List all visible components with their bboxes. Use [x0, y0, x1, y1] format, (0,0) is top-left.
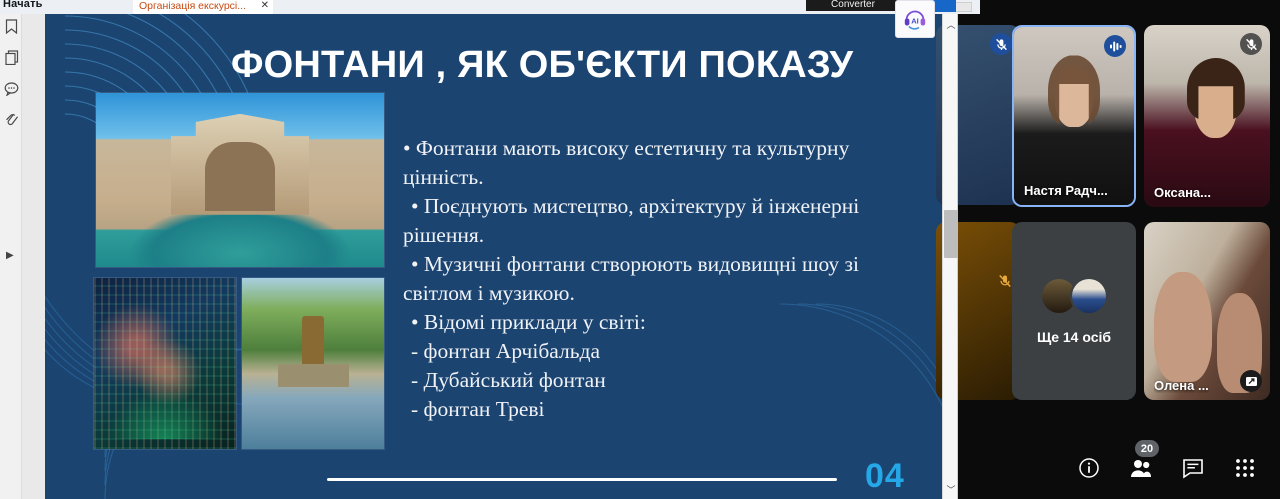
slide-bullet: - Дубайський фонтан: [403, 366, 933, 395]
start-button[interactable]: Начать: [3, 0, 43, 10]
speaking-indicator-icon: [1104, 35, 1126, 57]
more-participants-tile[interactable]: Ще 14 осіб: [1012, 222, 1136, 400]
slide-bullet: - фонтан Арчібальда: [403, 337, 933, 366]
slide-bullet: • Музичні фонтани створюють видовищні шо…: [403, 250, 933, 308]
participant-tile-oksana[interactable]: Оксана...: [1144, 25, 1270, 207]
pin-presentation-icon[interactable]: [1240, 370, 1262, 392]
meeting-info-button[interactable]: [1076, 455, 1102, 481]
video-call-panel: ... Настя Радч...: [958, 0, 1280, 499]
slide-bullet: • Фонтани мають високу естетичну та куль…: [403, 134, 933, 192]
avatar: [1070, 277, 1108, 315]
avatar-group: [1040, 277, 1108, 315]
scroll-up-button[interactable]: ︿: [943, 16, 959, 32]
meet-bottom-toolbar: 20: [958, 437, 1280, 499]
comment-icon[interactable]: [3, 80, 20, 97]
close-icon[interactable]: ✕: [261, 1, 269, 11]
document-scrollbar[interactable]: ︿ ﹀: [942, 14, 958, 499]
scrollbar-thumb[interactable]: [944, 210, 958, 258]
browser-tab-title: Організація екскурсі...: [139, 0, 257, 12]
slide-divider-rule: [327, 478, 837, 481]
activities-grid-button[interactable]: [1232, 455, 1258, 481]
expand-sidebar-arrow[interactable]: ▶: [6, 250, 14, 261]
participant-tile-nastya[interactable]: Настя Радч...: [1012, 25, 1136, 207]
slide-title: ФОНТАНИ , ЯК ОБ'ЄКТИ ПОКАЗУ: [231, 44, 931, 87]
pages-icon[interactable]: [3, 49, 20, 66]
archibald-fountain-photo: [241, 277, 385, 450]
slide-bullet: - фонтан Треві: [403, 395, 933, 424]
participant-name: Олена ...: [1154, 378, 1209, 393]
chat-button[interactable]: [1180, 455, 1206, 481]
pdf-document-area[interactable]: ФОНТАНИ , ЯК ОБ'ЄКТИ ПОКАЗУ • Фонтани ма…: [22, 14, 958, 499]
participant-name: Настя Радч...: [1024, 183, 1108, 198]
mic-off-icon: [990, 33, 1012, 55]
svg-text:AI: AI: [911, 16, 919, 25]
slide-bullet-list: • Фонтани мають високу естетичну та куль…: [403, 134, 933, 424]
ai-assistant-icon[interactable]: AI: [895, 0, 935, 38]
participant-name: Оксана...: [1154, 185, 1211, 200]
attachment-icon[interactable]: [3, 111, 20, 128]
mic-off-icon: [1240, 33, 1262, 55]
browser-tab[interactable]: Організація екскурсі... ✕: [133, 0, 273, 14]
slide-bullet: • Відомі приклади у світі:: [403, 308, 933, 337]
bookmark-icon[interactable]: [3, 18, 20, 35]
participant-tile-olena[interactable]: Олена ...: [1144, 222, 1270, 400]
presentation-slide: ФОНТАНИ , ЯК ОБ'ЄКТИ ПОКАЗУ • Фонтани ма…: [45, 14, 960, 499]
more-participants-label: Ще 14 осіб: [1037, 329, 1111, 345]
pdf-sidebar-rail[interactable]: ▶: [0, 14, 22, 499]
trevi-fountain-photo: [95, 92, 385, 268]
participants-count-badge: 20: [1135, 440, 1159, 457]
dubai-fountain-photo: [93, 277, 237, 450]
scroll-down-button[interactable]: ﹀: [943, 481, 959, 497]
converter-tooltip: Converter: [806, 0, 900, 11]
show-participants-button[interactable]: 20: [1128, 455, 1154, 481]
slide-bullet: • Поєднують мистецтво, архітектуру й інж…: [403, 192, 933, 250]
screen-root: ФОНТАНИ , ЯК ОБ'ЄКТИ ПОКАЗУ • Фонтани ма…: [0, 0, 1280, 499]
slide-number: 04: [865, 457, 905, 496]
